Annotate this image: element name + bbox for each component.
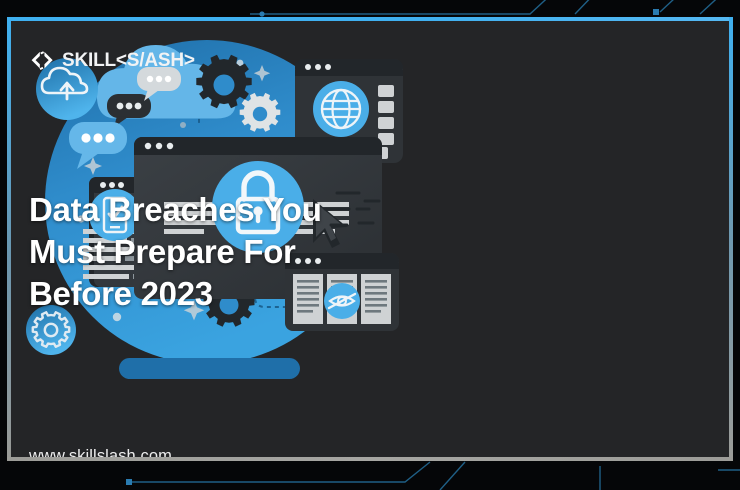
frame-border-right	[729, 17, 733, 461]
globe-icon	[313, 81, 369, 137]
circuit-node	[259, 11, 264, 16]
logo-text: SKILL<S/ASH>	[62, 50, 195, 72]
circuit-node	[653, 9, 659, 15]
headline-line-1: Data Breaches You	[29, 189, 322, 231]
banner-card: SKILL<S/ASH> Data Breaches You Must Prep…	[7, 17, 733, 461]
eye-slash-icon	[324, 283, 360, 319]
frame-border-bottom	[7, 457, 733, 461]
progress-bar[interactable]	[119, 358, 300, 379]
headline-line-3: Before 2023	[29, 273, 322, 315]
frame-border-top	[7, 17, 733, 21]
page-title: Data Breaches You Must Prepare For Befor…	[29, 189, 322, 316]
headline-line-2: Must Prepare For	[29, 231, 322, 273]
frame-border-left	[7, 17, 11, 461]
code-brackets-icon	[29, 50, 55, 72]
logo[interactable]: SKILL<S/ASH>	[29, 50, 195, 72]
document-icon	[361, 274, 391, 324]
circuit-node	[126, 479, 132, 485]
